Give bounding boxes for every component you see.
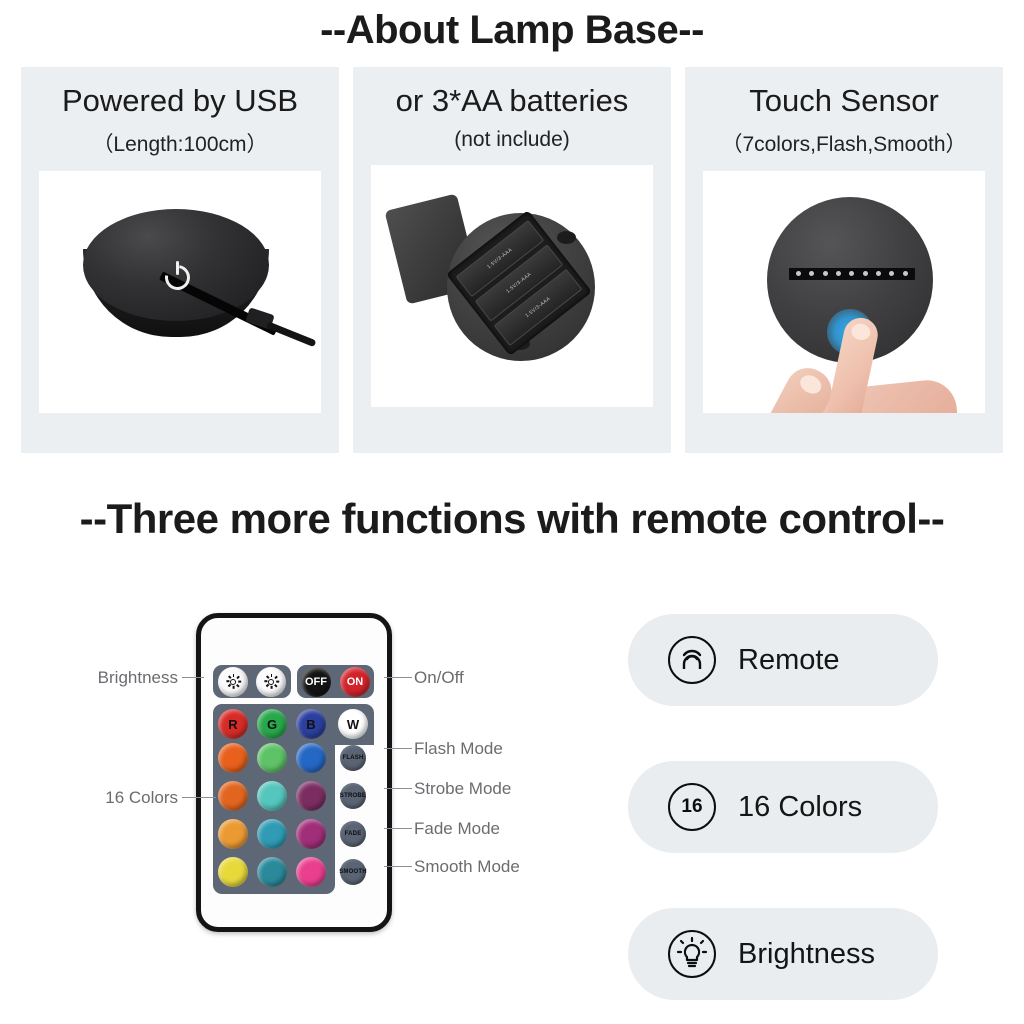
sixteen-circle-icon-text: 16	[668, 783, 716, 831]
led-dot	[889, 271, 894, 276]
page-title-about-lamp-base: --About Lamp Base--	[0, 8, 1024, 53]
leader-line-strobe-mode	[384, 788, 412, 789]
leader-line-smooth-mode	[384, 866, 412, 867]
color-button-green[interactable]: G	[257, 709, 287, 739]
led-dot	[836, 271, 841, 276]
led-strip	[789, 268, 915, 280]
annotation-brightness: Brightness	[58, 668, 178, 688]
lamp-base-info-graphic: --About Lamp Base-- Powered by USB （Leng…	[0, 0, 1024, 1024]
panel-powered-by-usb: Powered by USB （Length:100cm）	[21, 67, 339, 453]
color-swatch-button[interactable]	[218, 857, 248, 887]
panel-touch-subtitle: （7colors,Flash,Smooth）	[721, 128, 966, 158]
color-swatch-button[interactable]	[257, 857, 287, 887]
leader-line-16-colors	[182, 797, 216, 798]
led-dot	[809, 271, 814, 276]
color-swatch-button[interactable]	[218, 781, 248, 811]
rubber-foot	[557, 231, 576, 244]
thumb-nail	[797, 371, 824, 396]
panel-usb-subtitle: （Length:100cm）	[92, 128, 267, 158]
flash-button[interactable]: FLASH	[340, 745, 366, 771]
feature-pill-remote[interactable]: Remote	[628, 614, 938, 706]
remote-signal-icon	[668, 636, 716, 684]
color-swatch-button[interactable]	[296, 743, 326, 773]
smooth-button[interactable]: SMOOTH	[340, 859, 366, 885]
annotation-flash-mode: Flash Mode	[414, 739, 503, 759]
panel-battery-title: or 3*AA batteries	[396, 85, 629, 118]
leader-line-brightness	[182, 677, 204, 678]
leader-line-fade-mode	[384, 828, 412, 829]
color-button-white[interactable]: W	[338, 709, 368, 739]
color-swatch-button[interactable]	[257, 819, 287, 849]
led-dot	[903, 271, 908, 276]
feature-label-16-colors: 16 Colors	[738, 791, 862, 824]
led-dot	[796, 271, 801, 276]
usb-lamp-base-photo	[39, 171, 321, 413]
on-button[interactable]: ON	[340, 667, 370, 697]
led-dot	[849, 271, 854, 276]
off-button[interactable]: OFF	[301, 667, 331, 697]
battery-compartment-photo: 1.5V/3-AAA 1.5V/3-AAA 1.5V/3-AAA	[371, 165, 653, 407]
leader-line-flash-mode	[384, 748, 412, 749]
feature-label-brightness: Brightness	[738, 938, 875, 971]
finger-nail	[850, 322, 872, 342]
power-button-icon-bar	[176, 261, 179, 275]
color-swatch-button[interactable]	[218, 819, 248, 849]
fade-button[interactable]: FADE	[340, 821, 366, 847]
color-swatch-button[interactable]	[257, 781, 287, 811]
color-swatch-button[interactable]	[296, 857, 326, 887]
panel-touch-title: Touch Sensor	[749, 85, 939, 118]
feature-label-remote: Remote	[738, 644, 840, 677]
panel-touch-sensor: Touch Sensor （7colors,Flash,Smooth）	[685, 67, 1003, 453]
annotation-16-colors: 16 Colors	[58, 788, 178, 808]
brightness-down-icon	[227, 675, 240, 688]
brightness-up-button[interactable]	[256, 667, 286, 697]
feature-pill-16-colors[interactable]: 16 16 Colors	[628, 761, 938, 853]
feature-pill-brightness[interactable]: Brightness	[628, 908, 938, 1000]
panel-aa-batteries: or 3*AA batteries (not include) 1.5V/3-A…	[353, 67, 671, 453]
annotation-fade-mode: Fade Mode	[414, 819, 500, 839]
panel-battery-subtitle: (not include)	[454, 128, 570, 152]
led-dot	[823, 271, 828, 276]
color-swatch-button[interactable]	[296, 781, 326, 811]
page-title-three-more-functions: --Three more functions with remote contr…	[0, 495, 1024, 543]
sixteen-circle-icon: 16	[668, 783, 716, 831]
color-swatch-button[interactable]	[296, 819, 326, 849]
color-swatch-button[interactable]	[218, 743, 248, 773]
leader-line-on-off	[384, 677, 412, 678]
touch-sensor-photo	[703, 171, 985, 413]
color-button-red[interactable]: R	[218, 709, 248, 739]
panel-usb-title: Powered by USB	[62, 85, 298, 118]
brightness-up-icon	[265, 675, 278, 688]
lamp-base-top	[83, 209, 269, 321]
annotation-on-off: On/Off	[414, 668, 464, 688]
bulb-brightness-icon	[668, 930, 716, 978]
led-dot	[863, 271, 868, 276]
annotation-strobe-mode: Strobe Mode	[414, 779, 511, 799]
remote-control: OFF ON R G B W FLASH STROBE FADE SMOOTH	[196, 613, 392, 932]
brightness-down-button[interactable]	[218, 667, 248, 697]
annotation-smooth-mode: Smooth Mode	[414, 857, 520, 877]
color-swatch-button[interactable]	[257, 743, 287, 773]
led-dot	[876, 271, 881, 276]
color-button-blue[interactable]: B	[296, 709, 326, 739]
strobe-button[interactable]: STROBE	[340, 783, 366, 809]
